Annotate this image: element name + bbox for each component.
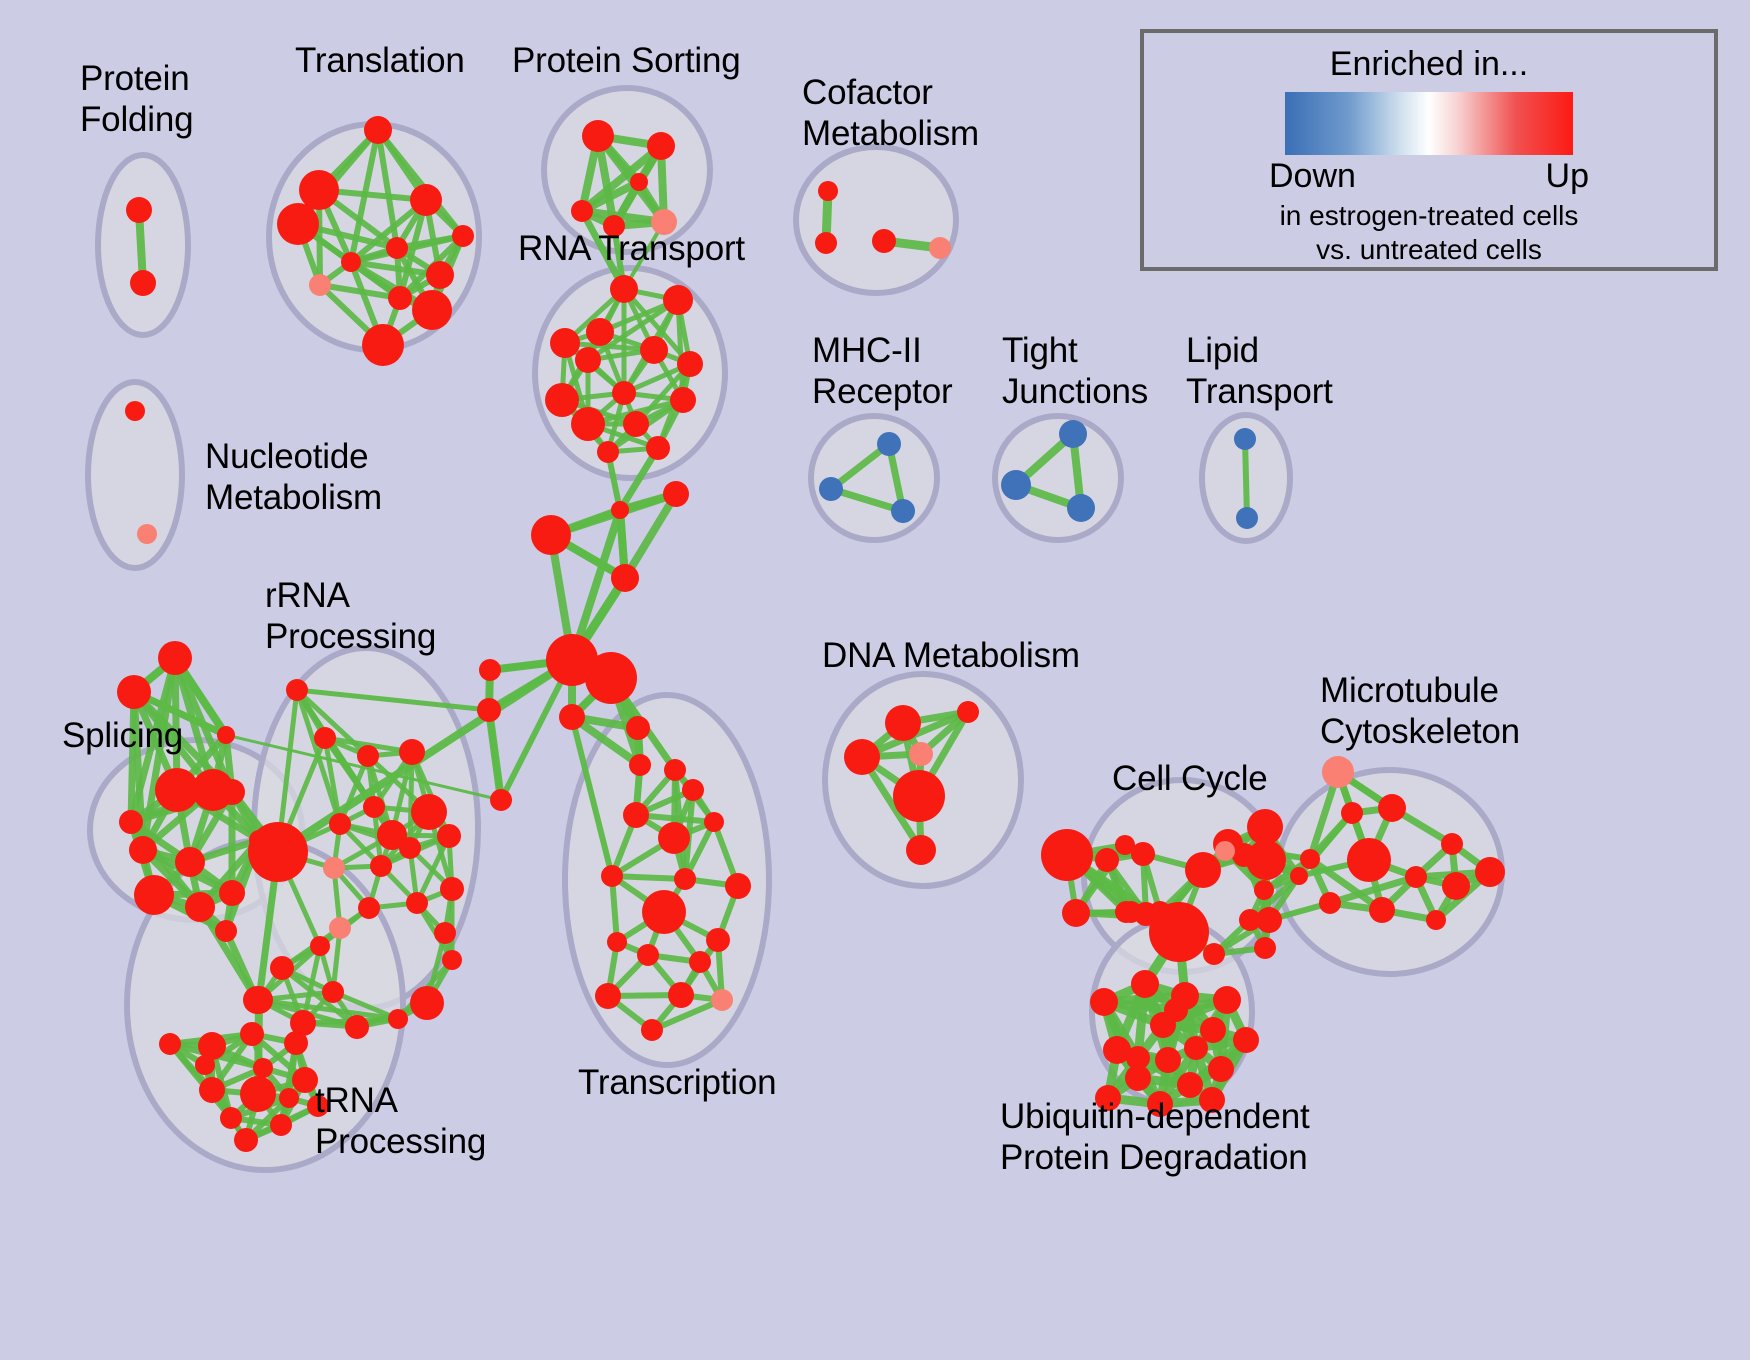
network-node[interactable] — [1115, 835, 1135, 855]
network-node[interactable] — [399, 837, 421, 859]
network-node[interactable] — [199, 1077, 225, 1103]
network-node[interactable] — [1126, 1046, 1150, 1070]
network-edge — [489, 710, 501, 800]
network-node[interactable] — [130, 270, 156, 296]
network-node[interactable] — [345, 1015, 369, 1039]
network-node[interactable] — [479, 659, 501, 681]
network-node[interactable] — [1236, 507, 1258, 529]
network-node[interactable] — [1095, 848, 1119, 872]
legend-subtitle-line1: in estrogen-treated cells — [1280, 199, 1579, 233]
legend-low-label: Down — [1269, 157, 1356, 196]
network-node[interactable] — [885, 705, 921, 741]
network-node[interactable] — [1239, 909, 1261, 931]
network-node[interactable] — [909, 742, 933, 766]
network-node[interactable] — [1442, 872, 1470, 900]
network-node[interactable] — [1234, 428, 1256, 450]
network-node[interactable] — [284, 1031, 308, 1055]
network-node[interactable] — [1155, 1047, 1181, 1073]
network-node[interactable] — [406, 892, 428, 914]
network-node[interactable] — [279, 1088, 299, 1108]
network-node[interactable] — [1405, 866, 1427, 888]
cluster-label-trna-processing: tRNA Processing — [315, 1080, 486, 1162]
network-node[interactable] — [410, 184, 442, 216]
cluster-label-cell-cycle: Cell Cycle — [1112, 758, 1268, 799]
cluster-label-mhc-ii-receptor: MHC-II Receptor — [812, 330, 952, 412]
network-node[interactable] — [677, 351, 703, 377]
network-node[interactable] — [670, 387, 696, 413]
network-node[interactable] — [1378, 794, 1406, 822]
network-node[interactable] — [1247, 809, 1283, 845]
network-node[interactable] — [220, 1107, 242, 1129]
network-node[interactable] — [1067, 494, 1095, 522]
cluster-label-nucleotide-metabolism: Nucleotide Metabolism — [205, 436, 382, 518]
network-node[interactable] — [877, 432, 901, 456]
network-node[interactable] — [582, 120, 614, 152]
network-node[interactable] — [559, 704, 585, 730]
cluster-label-tight-junctions: Tight Junctions — [1002, 330, 1148, 412]
network-node[interactable] — [370, 855, 392, 877]
network-node[interactable] — [586, 318, 614, 346]
network-node[interactable] — [818, 181, 838, 201]
network-node[interactable] — [626, 716, 650, 740]
network-node[interactable] — [630, 173, 648, 191]
cluster-label-splicing: Splicing — [62, 715, 183, 756]
network-node[interactable] — [117, 675, 151, 709]
network-node[interactable] — [658, 822, 690, 854]
network-node[interactable] — [253, 1058, 273, 1078]
network-node[interactable] — [442, 950, 462, 970]
network-node[interactable] — [711, 989, 733, 1011]
network-node[interactable] — [607, 932, 627, 952]
cluster-ellipse-cofactor-metabolism — [796, 147, 956, 293]
network-node[interactable] — [388, 286, 412, 310]
legend-box: Enriched in... Down Up in estrogen-treat… — [1140, 29, 1718, 271]
network-node[interactable] — [410, 986, 444, 1020]
network-node[interactable] — [137, 524, 157, 544]
network-node[interactable] — [286, 679, 308, 701]
network-node[interactable] — [1062, 899, 1090, 927]
cluster-label-lipid-transport: Lipid Transport — [1186, 330, 1333, 412]
network-node[interactable] — [357, 745, 379, 767]
network-node[interactable] — [248, 822, 308, 882]
network-node[interactable] — [134, 875, 174, 915]
legend-title: Enriched in... — [1330, 45, 1528, 84]
network-node[interactable] — [322, 981, 344, 1003]
network-node[interactable] — [623, 411, 649, 437]
cluster-label-cofactor-metabolism: Cofactor Metabolism — [802, 72, 979, 154]
cluster-label-rna-transport: RNA Transport — [518, 228, 745, 269]
network-node[interactable] — [1254, 880, 1274, 900]
network-node[interactable] — [1215, 841, 1235, 861]
network-node[interactable] — [663, 481, 689, 507]
network-node[interactable] — [411, 794, 447, 830]
network-node[interactable] — [893, 770, 945, 822]
network-node[interactable] — [277, 203, 319, 245]
network-node[interactable] — [1369, 897, 1395, 923]
network-node[interactable] — [668, 982, 694, 1008]
network-node[interactable] — [219, 880, 245, 906]
network-node[interactable] — [623, 802, 649, 828]
network-node[interactable] — [1177, 1072, 1203, 1098]
network-node[interactable] — [426, 261, 454, 289]
network-node[interactable] — [399, 739, 425, 765]
network-node[interactable] — [575, 347, 601, 373]
cluster-label-microtubule-cytoskeleton: Microtubule Cytoskeleton — [1320, 670, 1520, 752]
network-node[interactable] — [1041, 829, 1093, 881]
legend-colorbar — [1285, 92, 1573, 155]
network-node[interactable] — [175, 847, 205, 877]
network-node[interactable] — [1290, 867, 1308, 885]
network-node[interactable] — [1131, 970, 1159, 998]
network-node[interactable] — [299, 170, 339, 210]
network-node[interactable] — [386, 237, 408, 259]
network-node[interactable] — [689, 951, 711, 973]
network-node[interactable] — [571, 407, 605, 441]
network-node[interactable] — [1120, 901, 1142, 923]
network-node[interactable] — [310, 936, 330, 956]
network-node[interactable] — [611, 501, 629, 519]
cluster-label-dna-metabolism: DNA Metabolism — [822, 635, 1080, 676]
network-node[interactable] — [434, 922, 456, 944]
network-node[interactable] — [550, 328, 580, 358]
network-node[interactable] — [664, 759, 686, 781]
network-node[interactable] — [341, 252, 361, 272]
network-node[interactable] — [270, 1114, 292, 1136]
network-edge — [1245, 439, 1247, 518]
network-node[interactable] — [640, 336, 668, 364]
network-node[interactable] — [872, 229, 896, 253]
network-node[interactable] — [611, 564, 639, 592]
network-node[interactable] — [663, 285, 693, 315]
network-node[interactable] — [1059, 420, 1087, 448]
network-node[interactable] — [195, 1055, 215, 1075]
network-node[interactable] — [358, 897, 380, 919]
network-node[interactable] — [642, 890, 686, 934]
network-node[interactable] — [1164, 998, 1188, 1022]
network-node[interactable] — [1347, 838, 1391, 882]
network-node[interactable] — [1001, 470, 1031, 500]
network-node[interactable] — [725, 873, 751, 899]
network-node[interactable] — [1322, 756, 1354, 788]
network-node[interactable] — [329, 813, 351, 835]
cluster-label-translation: Translation — [295, 40, 465, 81]
network-node[interactable] — [1426, 910, 1446, 930]
network-node[interactable] — [571, 200, 593, 222]
network-node[interactable] — [125, 401, 145, 421]
network-node[interactable] — [185, 892, 215, 922]
network-node[interactable] — [1213, 986, 1241, 1014]
network-node[interactable] — [217, 726, 235, 744]
network-node[interactable] — [819, 477, 843, 501]
network-node[interactable] — [364, 116, 392, 144]
network-node[interactable] — [362, 324, 404, 366]
network-node[interactable] — [1319, 892, 1341, 914]
network-node[interactable] — [240, 1076, 276, 1112]
network-node[interactable] — [1441, 833, 1463, 855]
network-node[interactable] — [129, 836, 157, 864]
network-node[interactable] — [545, 383, 579, 417]
network-node[interactable] — [1300, 849, 1320, 869]
network-node[interactable] — [929, 237, 951, 259]
network-node[interactable] — [452, 225, 474, 247]
network-node[interactable] — [891, 499, 915, 523]
network-node[interactable] — [1246, 840, 1286, 880]
network-node[interactable] — [270, 956, 294, 980]
network-node[interactable] — [1203, 943, 1225, 965]
network-node[interactable] — [1090, 988, 1118, 1016]
network-node[interactable] — [706, 928, 730, 952]
network-node[interactable] — [637, 944, 659, 966]
network-node[interactable] — [1341, 802, 1363, 824]
network-node[interactable] — [309, 274, 331, 296]
network-node[interactable] — [388, 1009, 408, 1029]
network-node[interactable] — [119, 810, 143, 834]
network-node[interactable] — [704, 812, 724, 832]
network-node[interactable] — [906, 835, 936, 865]
network-node[interactable] — [490, 789, 512, 811]
network-node[interactable] — [126, 197, 152, 223]
network-node[interactable] — [192, 769, 234, 811]
network-node[interactable] — [323, 857, 345, 879]
network-node[interactable] — [682, 779, 704, 801]
network-node[interactable] — [641, 1019, 663, 1041]
network-node[interactable] — [363, 796, 385, 818]
network-node[interactable] — [245, 986, 273, 1014]
network-node[interactable] — [159, 1033, 181, 1055]
network-node[interactable] — [1254, 937, 1276, 959]
network-node[interactable] — [215, 920, 237, 942]
network-node[interactable] — [647, 132, 675, 160]
network-node[interactable] — [329, 917, 351, 939]
network-node[interactable] — [597, 441, 619, 463]
network-node[interactable] — [1184, 1036, 1208, 1060]
cluster-label-rrna-processing: rRNA Processing — [265, 575, 436, 657]
network-node[interactable] — [957, 701, 979, 723]
network-node[interactable] — [1208, 1056, 1234, 1082]
cluster-label-protein-sorting: Protein Sorting — [512, 40, 741, 81]
network-node[interactable] — [610, 275, 638, 303]
network-node[interactable] — [844, 739, 880, 775]
network-node[interactable] — [1185, 852, 1221, 888]
network-node[interactable] — [531, 515, 571, 555]
network-node[interactable] — [1475, 857, 1505, 887]
network-node[interactable] — [674, 868, 696, 890]
network-node[interactable] — [629, 754, 651, 776]
network-figure: Protein FoldingTranslationProtein Sortin… — [0, 0, 1750, 1360]
cluster-label-ubiquitin-protein-degradation: Ubiquitin-dependent Protein Degradation — [1000, 1096, 1310, 1178]
network-node[interactable] — [240, 1022, 264, 1046]
legend-subtitle: in estrogen-treated cells vs. untreated … — [1280, 199, 1579, 267]
network-node[interactable] — [1151, 905, 1177, 931]
network-node[interactable] — [440, 877, 464, 901]
legend-subtitle-line2: vs. untreated cells — [1280, 233, 1579, 267]
network-node[interactable] — [646, 436, 670, 460]
network-node[interactable] — [585, 652, 637, 704]
network-node[interactable] — [477, 698, 501, 722]
cluster-label-transcription: Transcription — [578, 1062, 776, 1103]
network-node[interactable] — [314, 727, 336, 749]
network-node[interactable] — [158, 641, 192, 675]
network-node[interactable] — [601, 865, 623, 887]
network-node[interactable] — [234, 1128, 258, 1152]
cluster-label-protein-folding: Protein Folding — [80, 58, 193, 140]
legend-endpoints: Down Up — [1269, 157, 1589, 196]
network-node[interactable] — [1233, 1027, 1259, 1053]
network-node[interactable] — [612, 381, 636, 405]
network-node[interactable] — [412, 290, 452, 330]
network-node[interactable] — [595, 983, 621, 1009]
network-node[interactable] — [437, 824, 461, 848]
legend-high-label: Up — [1546, 157, 1589, 196]
network-node[interactable] — [815, 232, 837, 254]
